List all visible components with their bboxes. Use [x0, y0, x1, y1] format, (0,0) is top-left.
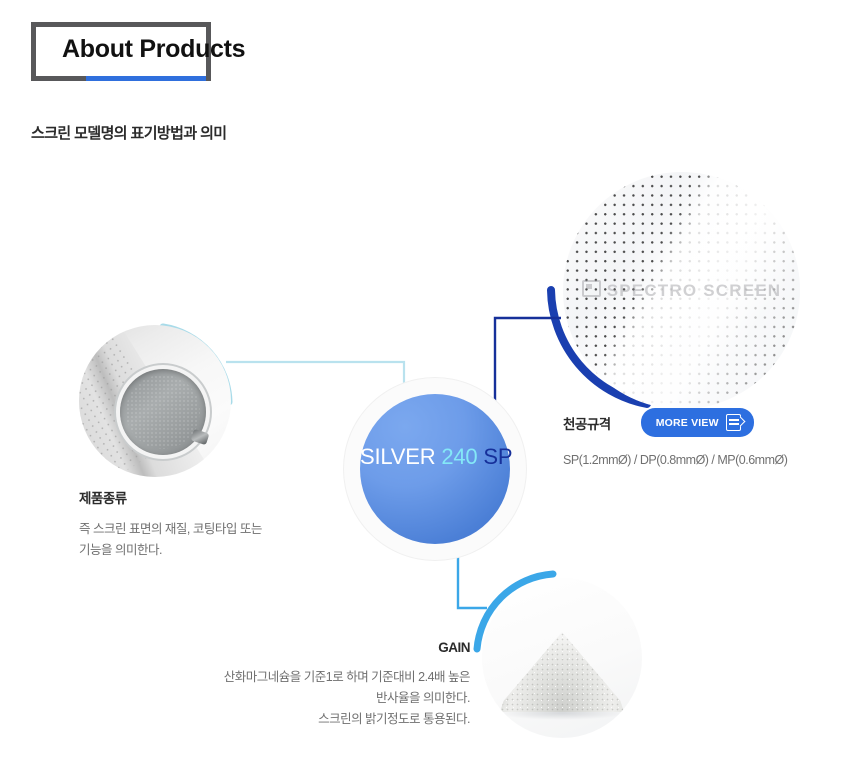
gain-body-line3: 스크린의 밝기정도로 통용된다. — [150, 709, 470, 730]
gain-body-line1: 산화마그네슘을 기준1로 하며 기준대비 2.4배 높은 — [150, 667, 470, 688]
about-products-page: About Products 스크린 모델명의 표기방법과 의미 SPECTRO… — [0, 0, 845, 757]
product-type-body-line2: 기능을 의미한다. — [79, 540, 339, 561]
page-title: About Products — [62, 35, 245, 64]
product-type-body-line1: 즉 스크린 표면의 재질, 코팅타입 또는 — [79, 519, 339, 540]
gain-heading: GAIN — [150, 640, 470, 655]
external-link-icon — [726, 414, 741, 431]
powder-texture — [500, 632, 624, 712]
model-perforation-text: SP — [483, 444, 512, 469]
more-view-button[interactable]: MORE VIEW — [641, 408, 754, 437]
perforated-screen-photo: SPECTRO SCREEN — [563, 172, 800, 409]
screen-roll-photo — [79, 325, 231, 477]
callout-product-type: 제품종류 즉 스크린 표면의 재질, 코팅타입 또는 기능을 의미한다. — [79, 487, 339, 561]
perforation-heading-row: 천공규격 MORE VIEW — [563, 408, 845, 437]
callout-perforation: 천공규격 MORE VIEW SP(1.2mmØ) / DP(0.8mmØ) /… — [563, 408, 845, 471]
model-gain-text: 240 — [441, 444, 477, 469]
roll-hub — [120, 369, 206, 455]
perforation-body: SP(1.2mmØ) / DP(0.8mmØ) / MP(0.6mmØ) — [563, 450, 845, 471]
screen-watermark-text: SPECTRO SCREEN — [607, 281, 782, 300]
model-material-text: SILVER — [360, 444, 435, 469]
gain-body-line2: 반사율을 의미한다. — [150, 688, 470, 709]
model-name-label: SILVER 240 SP — [360, 444, 510, 470]
spectro-logo-icon — [582, 280, 601, 297]
callout-gain: GAIN 산화마그네슘을 기준1로 하며 기준대비 2.4배 높은 반사율을 의… — [150, 640, 470, 730]
magnesium-oxide-powder-photo — [482, 578, 642, 738]
screen-watermark: SPECTRO SCREEN — [563, 280, 800, 301]
page-subtitle: 스크린 모델명의 표기방법과 의미 — [31, 122, 227, 143]
product-type-heading: 제품종류 — [79, 487, 339, 507]
more-view-label: MORE VIEW — [656, 417, 719, 429]
product-type-body: 즉 스크린 표면의 재질, 코팅타입 또는 기능을 의미한다. — [79, 519, 339, 561]
page-title-accent-bar — [86, 76, 206, 81]
perforation-heading: 천공규격 — [563, 413, 611, 433]
gain-body: 산화마그네슘을 기준1로 하며 기준대비 2.4배 높은 반사율을 의미한다. … — [150, 667, 470, 730]
